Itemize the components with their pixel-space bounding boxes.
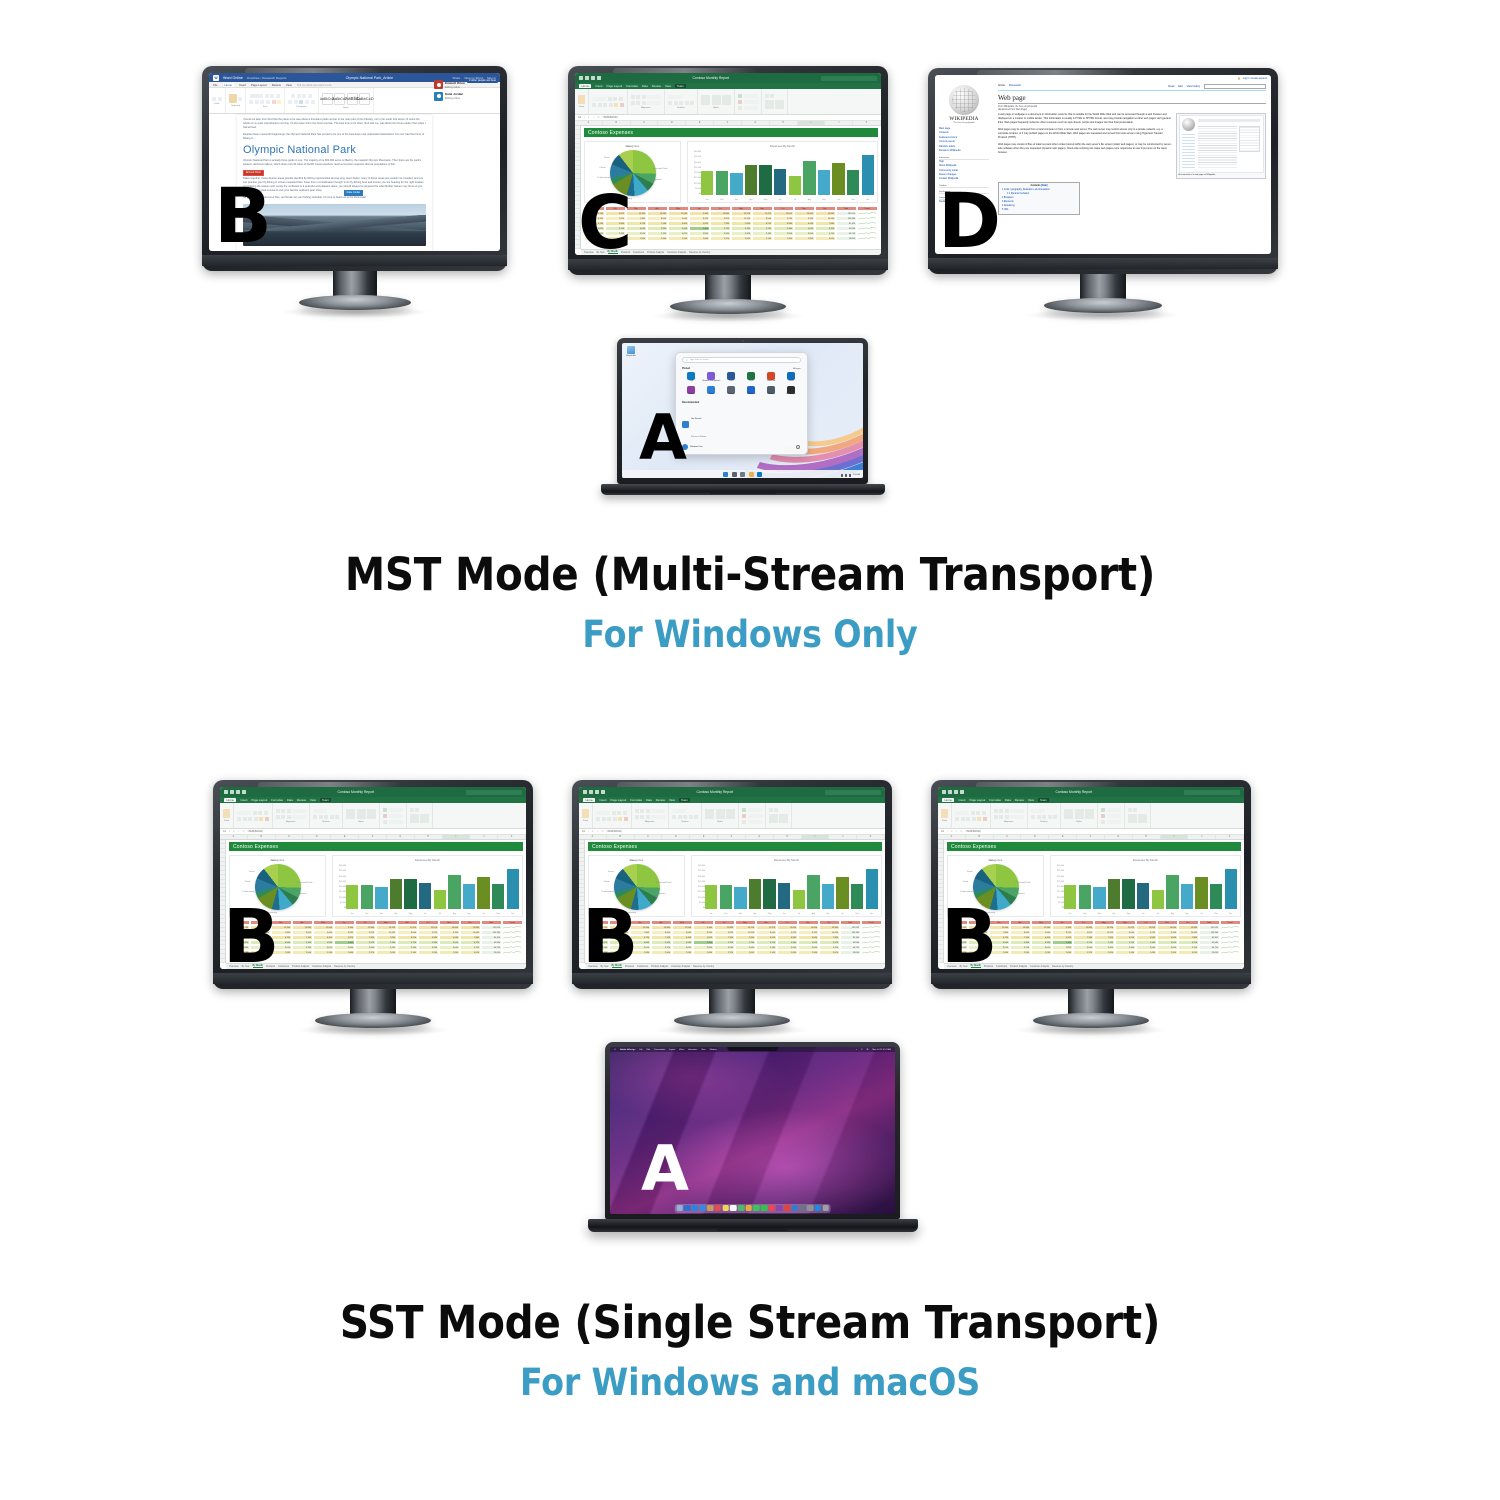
autosum-icon[interactable] — [410, 808, 414, 812]
align-middle-icon[interactable] — [281, 809, 285, 813]
increase-decimal-icon[interactable] — [685, 101, 689, 105]
underline-icon[interactable] — [603, 103, 607, 107]
table-cell[interactable]: 2,490 — [418, 950, 439, 955]
excel-tab-team[interactable]: Team — [1038, 798, 1049, 802]
table-cell[interactable]: 2,260 — [439, 950, 460, 955]
merge-center-button[interactable] — [1010, 815, 1024, 819]
col-c[interactable]: C — [631, 121, 659, 125]
sheet-tab-customers[interactable]: Customers — [633, 252, 644, 254]
align-left-icon[interactable] — [635, 815, 639, 819]
fill-color-icon[interactable] — [618, 817, 622, 821]
font-name-select[interactable] — [596, 811, 610, 815]
excel-search-box[interactable] — [466, 790, 522, 795]
decrease-decimal-icon[interactable] — [690, 101, 694, 105]
dock-trash-icon[interactable] — [822, 1205, 829, 1212]
excel-tab-view[interactable]: View — [310, 798, 316, 802]
fill-color-icon[interactable] — [977, 817, 981, 821]
col-h[interactable]: H — [774, 835, 802, 839]
underline-icon[interactable] — [248, 817, 252, 821]
article-thumbnail[interactable]: A screenshot of a web page on Wikipedia — [1176, 113, 1266, 179]
excel-tab-data[interactable]: Data — [642, 84, 648, 88]
col-g[interactable]: G — [1105, 835, 1133, 839]
col-f[interactable]: F — [359, 835, 387, 839]
merge-center-button[interactable] — [292, 815, 306, 819]
italic-icon[interactable] — [602, 817, 606, 821]
font-color-icon[interactable] — [624, 817, 628, 821]
table-cell[interactable]: 2,370 — [714, 950, 735, 955]
dock-keynote-icon[interactable] — [815, 1205, 822, 1212]
sheet-tab-product-analysis[interactable]: Product Analysis — [1010, 966, 1027, 968]
menu-edit[interactable]: Edit — [647, 1049, 650, 1051]
start-app-outlook[interactable]: Outlook — [782, 372, 801, 382]
conditional-formatting-icon[interactable] — [1064, 809, 1073, 819]
start-app-whiteboard[interactable]: Whiteboard — [742, 386, 761, 396]
menu-window[interactable]: Window — [710, 1049, 717, 1051]
format-label[interactable] — [1107, 820, 1121, 824]
col-d[interactable]: D — [303, 835, 331, 839]
col-c[interactable]: C — [635, 835, 663, 839]
wrap-text-button[interactable] — [651, 809, 665, 813]
col-k[interactable]: K — [857, 835, 885, 839]
control-center-icon[interactable]: ☰ — [867, 1049, 869, 1051]
start-menu[interactable]: ⚲ Type here to search Pinned All apps Ed… — [675, 352, 808, 455]
number-format-select[interactable] — [672, 809, 686, 813]
dock-system-preferences-icon[interactable] — [799, 1205, 806, 1212]
excel-tab-data[interactable]: Data — [287, 798, 293, 802]
excel-tab-page-layout[interactable]: Page Layout — [251, 798, 267, 802]
col-j[interactable]: J — [829, 835, 857, 839]
formula-input[interactable]: =SUM(B2:M2) — [247, 830, 262, 833]
tab-discussion[interactable]: Discussion — [1009, 84, 1021, 89]
table-cell[interactable]: 2,810 — [376, 950, 397, 955]
search-icon[interactable] — [732, 472, 737, 477]
borders-icon[interactable] — [254, 817, 258, 821]
delete-label[interactable] — [744, 100, 758, 104]
strikethrough-icon[interactable] — [266, 100, 270, 104]
excel-tab-page-layout[interactable]: Page Layout — [610, 798, 626, 802]
excel-tab-review[interactable]: Review — [652, 84, 661, 88]
shrink-font-icon[interactable] — [276, 94, 280, 98]
undo-icon[interactable] — [212, 97, 216, 101]
insert-label[interactable] — [748, 808, 762, 812]
monitor-d-wikipedia[interactable]: 🔒 Log in / create account WIKIPEDIA The … — [928, 68, 1278, 274]
col-a[interactable]: A — [579, 835, 607, 839]
start-app-onenote[interactable]: OneNote — [682, 386, 701, 396]
col-j[interactable]: J — [825, 121, 853, 125]
decrease-decimal-icon[interactable] — [335, 815, 339, 819]
underline-icon[interactable] — [607, 817, 611, 821]
font-size-select[interactable] — [265, 94, 269, 98]
dock-messages-icon[interactable] — [753, 1205, 760, 1212]
cut-icon[interactable] — [238, 97, 242, 101]
col-i[interactable]: I — [1161, 835, 1189, 839]
paste-icon[interactable] — [582, 809, 589, 818]
dock-music-icon[interactable] — [768, 1205, 775, 1212]
number-format-select[interactable] — [313, 809, 327, 813]
increase-decimal-icon[interactable] — [330, 815, 334, 819]
excel-tab-data[interactable]: Data — [1005, 798, 1011, 802]
italic-icon[interactable] — [598, 103, 602, 107]
excel-tab-review[interactable]: Review — [1015, 798, 1024, 802]
menubar-app-name[interactable]: Adobe InDesign — [620, 1049, 635, 1051]
format-as-table-icon[interactable] — [1075, 809, 1084, 819]
tab-article[interactable]: Article — [998, 84, 1005, 89]
delete-cells-icon[interactable] — [742, 814, 746, 818]
col-b[interactable]: B — [248, 835, 276, 839]
justify-icon[interactable] — [305, 100, 309, 104]
sheet-tab-revenue-by-country[interactable]: Revenue by Country — [693, 966, 714, 968]
excel-tab-insert[interactable]: Insert — [958, 798, 965, 802]
percent-icon[interactable] — [319, 815, 323, 819]
italic-icon[interactable] — [255, 100, 259, 104]
format-label[interactable] — [748, 820, 762, 824]
start-app-calculator[interactable]: Calculator — [762, 386, 781, 396]
paste-icon[interactable] — [223, 809, 230, 818]
action-view-history[interactable]: View history — [1187, 85, 1200, 88]
desktop-icon-recycle-bin[interactable]: Recycle Bin — [625, 346, 637, 357]
cell-styles-icon[interactable] — [726, 809, 735, 819]
start-app-word[interactable]: Word — [722, 372, 741, 382]
word-tab-review[interactable]: Review — [272, 83, 281, 87]
table-cell[interactable]: 29,090 — [481, 950, 502, 955]
style-normal[interactable]: AaBbCcD — [322, 93, 333, 105]
col-a[interactable]: A — [220, 835, 248, 839]
col-a[interactable]: A — [938, 835, 966, 839]
font-size-select[interactable] — [608, 97, 612, 101]
table-of-contents[interactable]: Contents [hide] 1 Color, typography, ill… — [998, 182, 1080, 216]
word-tab-insert[interactable]: Insert — [239, 83, 246, 87]
macos-menubar[interactable]:  Adobe InDesign File Edit Presentation … — [610, 1047, 895, 1052]
start-app-powerpoint[interactable]: PowerPoint — [762, 372, 781, 382]
taskbar-clock[interactable]: 10:45 AM — [853, 474, 860, 476]
table-cell[interactable]: 2,140 — [752, 236, 773, 241]
dock-safari-icon[interactable] — [692, 1205, 699, 1212]
action-edit[interactable]: Edit — [1178, 85, 1182, 88]
table-cell[interactable]: 2,680 — [689, 236, 710, 241]
comma-icon[interactable] — [683, 815, 687, 819]
excel-tab-view[interactable]: View — [1028, 798, 1034, 802]
bold-icon[interactable] — [596, 817, 600, 821]
table-cell[interactable]: 2,260 — [794, 236, 815, 241]
merge-center-button[interactable] — [651, 815, 665, 819]
dock-podcasts-icon[interactable] — [776, 1205, 783, 1212]
conditional-formatting-icon[interactable] — [705, 809, 714, 819]
find-select-icon[interactable] — [1138, 814, 1147, 823]
conditional-formatting-icon[interactable] — [346, 809, 355, 819]
excel-tab-view[interactable]: View — [669, 798, 675, 802]
borders-icon[interactable] — [609, 103, 613, 107]
align-bottom-icon[interactable] — [646, 809, 650, 813]
bar-chart[interactable]: Expenses By Month $40,000 $35,000 $30,00… — [691, 855, 882, 917]
font-name-select[interactable] — [250, 94, 263, 98]
sheet-tab-customers[interactable]: Customers — [637, 966, 648, 968]
font-color-icon[interactable] — [983, 817, 987, 821]
percent-icon[interactable] — [678, 815, 682, 819]
col-f[interactable]: F — [1077, 835, 1105, 839]
font-size-select[interactable] — [971, 811, 975, 815]
search-input[interactable] — [1204, 84, 1266, 89]
align-left-icon[interactable] — [276, 815, 280, 819]
login-link[interactable]: Log in / create account — [1243, 77, 1267, 80]
table-cell[interactable]: 2,560 — [1010, 950, 1031, 955]
insert-label[interactable] — [389, 808, 403, 812]
find-select-icon[interactable] — [775, 100, 784, 109]
word-breadcrumb[interactable]: OneDrive › Research Reports — [247, 76, 287, 80]
align-center-icon[interactable] — [281, 815, 285, 819]
col-g[interactable]: G — [387, 835, 415, 839]
dock-facetime-icon[interactable] — [761, 1205, 768, 1212]
align-bottom-icon[interactable] — [1005, 809, 1009, 813]
align-left-icon[interactable] — [631, 101, 635, 105]
increase-decimal-icon[interactable] — [689, 815, 693, 819]
sheet-tab-revenue-by-country[interactable]: Revenue by Country — [1052, 966, 1073, 968]
grow-font-icon[interactable] — [613, 97, 617, 101]
menubar-clock[interactable]: Mon Jul 11 10:41 AM — [872, 1049, 891, 1051]
sheet-tab-customers[interactable]: Customers — [278, 966, 289, 968]
excel-tab-home[interactable]: Home — [579, 84, 591, 88]
sort-filter-icon[interactable] — [769, 814, 778, 823]
widgets-icon[interactable] — [740, 472, 745, 477]
bar-chart[interactable]: Expenses By Month $40,000 $35,000 $30,00… — [332, 855, 523, 917]
word-tab-file[interactable]: File — [213, 83, 218, 87]
wikipedia-globe-icon[interactable] — [949, 85, 979, 115]
menu-layout[interactable]: Layout — [669, 1049, 675, 1051]
percent-icon[interactable] — [1037, 815, 1041, 819]
shrink-font-icon[interactable] — [264, 811, 268, 815]
table-cell[interactable]: 2,140 — [397, 950, 418, 955]
style-no-spacing[interactable]: AaBbCcD — [334, 93, 345, 105]
fill-color-icon[interactable] — [614, 103, 618, 107]
align-top-icon[interactable] — [276, 809, 280, 813]
table-cell[interactable]: 2,680 — [1052, 950, 1073, 955]
numbering-icon[interactable] — [297, 94, 301, 98]
dock-notes-icon[interactable] — [722, 1205, 729, 1212]
col-j[interactable]: J — [1188, 835, 1216, 839]
col-k[interactable]: K — [498, 835, 526, 839]
excel-tab-formulas[interactable]: Formulas — [626, 84, 638, 88]
table-cell[interactable]: 29,090 — [1199, 950, 1220, 955]
cell-styles-icon[interactable] — [722, 95, 731, 105]
monitor-b-word[interactable]: W Word Online OneDrive › Research Report… — [202, 66, 507, 271]
table-cell[interactable]: 2,490 — [1136, 950, 1157, 955]
dock-app-store-icon[interactable] — [792, 1205, 799, 1212]
italic-icon[interactable] — [961, 817, 965, 821]
sort-filter-icon[interactable] — [1128, 814, 1137, 823]
pinned-apps-grid[interactable]: EdgeMicrosoft Store (preview)WordExcelPo… — [682, 372, 801, 396]
windows-laptop-a[interactable]: Recycle Bin ⚲ Type here to search Pinned… — [617, 338, 868, 484]
col-e[interactable]: E — [686, 121, 714, 125]
delete-label[interactable] — [389, 814, 403, 818]
italic-icon[interactable] — [243, 817, 247, 821]
wrap-text-button[interactable] — [1010, 809, 1024, 813]
format-cells-icon[interactable] — [742, 820, 746, 824]
table-cell[interactable]: 29,090 — [840, 950, 861, 955]
currency-icon[interactable] — [1031, 815, 1035, 819]
cell-styles-icon[interactable] — [367, 809, 376, 819]
excel-tab-insert[interactable]: Insert — [595, 84, 602, 88]
col-b[interactable]: B — [603, 121, 631, 125]
align-right-icon[interactable] — [642, 101, 646, 105]
delete-label[interactable] — [1107, 814, 1121, 818]
increase-decimal-icon[interactable] — [1048, 815, 1052, 819]
dock-calendar-icon[interactable] — [715, 1205, 722, 1212]
format-cells-icon[interactable] — [1101, 820, 1105, 824]
excel-tab-page-layout[interactable]: Page Layout — [969, 798, 985, 802]
quick-access-toolbar[interactable] — [942, 790, 964, 794]
align-bottom-icon[interactable] — [287, 809, 291, 813]
percent-icon[interactable] — [674, 101, 678, 105]
excel-tab-formulas[interactable]: Formulas — [271, 798, 283, 802]
fill-icon[interactable] — [415, 808, 419, 812]
table-cell[interactable]: 2,260 — [1157, 950, 1178, 955]
line-spacing-icon[interactable] — [311, 100, 315, 104]
col-f[interactable]: F — [718, 835, 746, 839]
table-cell[interactable]: 3,020 — [819, 950, 840, 955]
redo-icon[interactable] — [218, 97, 222, 101]
delete-cells-icon[interactable] — [383, 814, 387, 818]
format-as-table-icon[interactable] — [712, 95, 721, 105]
align-top-icon[interactable] — [994, 809, 998, 813]
action-read[interactable]: Read — [1168, 85, 1174, 88]
insert-cells-icon[interactable] — [742, 808, 746, 812]
format-as-table-icon[interactable] — [716, 809, 725, 819]
format-label[interactable] — [389, 820, 403, 824]
col-g[interactable]: G — [742, 121, 770, 125]
bold-icon[interactable] — [237, 817, 241, 821]
align-right-icon[interactable] — [1005, 815, 1009, 819]
col-g[interactable]: G — [746, 835, 774, 839]
comma-icon[interactable] — [1042, 815, 1046, 819]
align-center-icon[interactable] — [294, 100, 298, 104]
cell-styles-icon[interactable] — [1085, 809, 1094, 819]
dock-photos-icon[interactable] — [745, 1205, 752, 1212]
align-bottom-icon[interactable] — [642, 95, 646, 99]
col-i[interactable]: I — [798, 121, 826, 125]
wikipedia-nav[interactable]: Main page Contents Featured content Curr… — [939, 127, 989, 154]
font-size-select[interactable] — [253, 811, 257, 815]
delete-cells-icon[interactable] — [738, 100, 742, 104]
table-cell[interactable]: 2,240 — [1031, 950, 1052, 955]
col-i[interactable]: I — [802, 835, 830, 839]
insert-cells-icon[interactable] — [738, 94, 742, 98]
menu-effect[interactable]: Effect — [679, 1049, 684, 1051]
system-tray[interactable]: 10:45 AM — [841, 474, 860, 477]
col-d[interactable]: D — [1021, 835, 1049, 839]
dock-mail-icon[interactable] — [699, 1205, 706, 1212]
wikipedia-user-bar[interactable]: 🔒 Log in / create account — [935, 75, 1271, 82]
file-explorer-icon[interactable] — [749, 472, 754, 477]
align-center-icon[interactable] — [640, 815, 644, 819]
fill-icon[interactable] — [774, 808, 778, 812]
col-j[interactable]: J — [470, 835, 498, 839]
table-cell[interactable]: 2,370 — [1073, 950, 1094, 955]
person-row[interactable]: Emmett Orton Editing online — [434, 80, 498, 89]
word-app-name[interactable]: Word Online — [223, 76, 243, 80]
col-a[interactable]: A — [575, 121, 603, 125]
monitor-sst-3-excel[interactable]: Contoso Monthly Report Home Insert Page … — [931, 780, 1251, 989]
sheet-tab-product-analysis[interactable]: Product Analysis — [292, 966, 309, 968]
paste-icon[interactable] — [578, 95, 585, 104]
table-cell[interactable]: 3,020 — [460, 950, 481, 955]
align-right-icon[interactable] — [299, 100, 303, 104]
currency-icon[interactable] — [672, 815, 676, 819]
sheet-tab-product-analysis[interactable]: Product Analysis — [651, 966, 668, 968]
search-icon[interactable]: ⚲ — [861, 1049, 862, 1051]
power-icon[interactable] — [796, 445, 800, 449]
find-select-icon[interactable] — [779, 814, 788, 823]
sheet-tab-product-analysis[interactable]: Product Analysis — [647, 252, 664, 254]
sheet-tab-customer-analysis[interactable]: Customer Analysis — [671, 966, 690, 968]
col-d[interactable]: D — [662, 835, 690, 839]
fill-color-icon[interactable] — [259, 817, 263, 821]
table-cell[interactable]: 2,680 — [334, 950, 355, 955]
bar-chart[interactable]: Expenses By Month $40,000 $35,000 $30,00… — [687, 141, 878, 203]
table-cell[interactable]: 3,020 — [815, 236, 836, 241]
start-app-photos[interactable]: Photos — [702, 386, 721, 396]
decrease-decimal-icon[interactable] — [1053, 815, 1057, 819]
number-format-select[interactable] — [668, 95, 682, 99]
col-e[interactable]: E — [690, 835, 718, 839]
monitor-sst-2-excel[interactable]: Contoso Monthly Report Home Insert Page … — [572, 780, 892, 989]
excel-tab-formulas[interactable]: Formulas — [989, 798, 1001, 802]
format-cells-icon[interactable] — [738, 106, 742, 110]
shrink-font-icon[interactable] — [982, 811, 986, 815]
wrap-text-button[interactable] — [292, 809, 306, 813]
all-apps-button[interactable]: All apps — [793, 368, 800, 370]
name-box[interactable]: A1 — [941, 830, 944, 833]
format-cells-icon[interactable] — [383, 820, 387, 824]
font-name-select[interactable] — [955, 811, 969, 815]
col-k[interactable]: K — [853, 121, 881, 125]
table-cell[interactable]: 2,260 — [798, 950, 819, 955]
name-box[interactable]: A1 — [223, 830, 226, 833]
shrink-font-icon[interactable] — [623, 811, 627, 815]
sheet-tab-customer-analysis[interactable]: Customer Analysis — [1030, 966, 1049, 968]
format-as-table-icon[interactable] — [357, 809, 366, 819]
table-cell[interactable]: 29,090 — [836, 236, 857, 241]
sheet-tab-revenue-by-country[interactable]: Revenue by Country — [689, 252, 710, 254]
edge-icon[interactable] — [757, 472, 762, 477]
start-app-microsoft-store-preview-[interactable]: Microsoft Store (preview) — [702, 372, 721, 382]
table-cell[interactable]: 2,240 — [672, 950, 693, 955]
sheet-tab-customer-analysis[interactable]: Customer Analysis — [667, 252, 686, 254]
monitor-sst-1-excel[interactable]: Contoso Monthly Report Home Insert Page … — [213, 780, 533, 989]
sheet-tab-customers[interactable]: Customers — [996, 966, 1007, 968]
table-cell[interactable]: 2,140 — [1115, 950, 1136, 955]
word-tell-me[interactable]: Tell me what you want to do — [297, 83, 332, 87]
grow-font-icon[interactable] — [258, 811, 262, 815]
shrink-font-icon[interactable] — [619, 97, 623, 101]
table-cell[interactable]: 2,680 — [693, 950, 714, 955]
start-icon[interactable] — [723, 472, 728, 477]
table-cell[interactable]: 2,240 — [668, 236, 689, 241]
table-cell[interactable]: 2,370 — [710, 236, 731, 241]
macbook-a[interactable]:  Adobe InDesign File Edit Presentation … — [605, 1042, 900, 1219]
bullets-icon[interactable] — [291, 94, 295, 98]
monitor-c-excel[interactable]: Contoso Monthly Report Home Insert Page … — [568, 66, 888, 275]
name-box[interactable]: A1 — [582, 830, 585, 833]
grow-font-icon[interactable] — [617, 811, 621, 815]
quick-access-toolbar[interactable] — [579, 76, 601, 80]
excel-tab-formulas[interactable]: Formulas — [630, 798, 642, 802]
underline-icon[interactable] — [260, 100, 264, 104]
recommended-item[interactable]: Get Started Welcome to Windows — [682, 406, 801, 442]
name-box[interactable]: A1 — [578, 116, 581, 119]
nav-donate[interactable]: Donate to Wikipedia — [939, 149, 989, 153]
paste-icon[interactable] — [229, 94, 237, 103]
word-tab-page-layout[interactable]: Page Layout — [251, 83, 267, 87]
excel-tab-team[interactable]: Team — [320, 798, 331, 802]
